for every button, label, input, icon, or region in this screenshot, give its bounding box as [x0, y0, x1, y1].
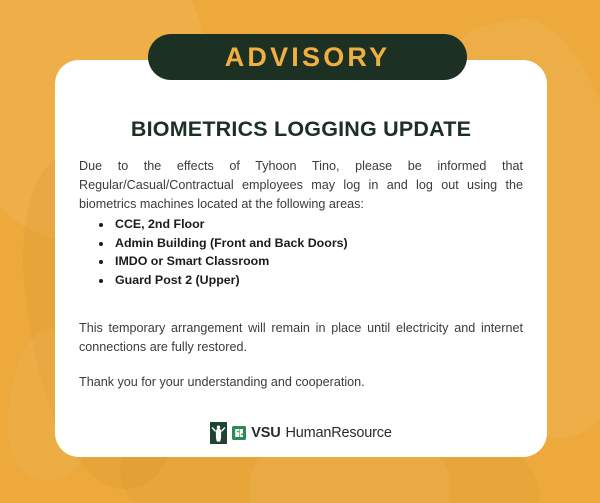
- temporary-arrangement-paragraph: This temporary arrangement will remain i…: [79, 319, 523, 357]
- footer-brand-humanresource: HumanResource: [286, 426, 392, 441]
- list-item: IMDO or Smart Classroom: [113, 252, 523, 271]
- page-title: BIOMETRICS LOGGING UPDATE: [55, 117, 547, 142]
- thanks-paragraph: Thank you for your understanding and coo…: [79, 373, 523, 392]
- advisory-card: BIOMETRICS LOGGING UPDATE Due to the eff…: [55, 60, 547, 457]
- list-item: Admin Building (Front and Back Doors): [113, 234, 523, 253]
- footer-brand-vsu: VSU: [251, 426, 280, 441]
- intro-paragraph: Due to the effects of Tyhoon Tino, pleas…: [79, 157, 523, 214]
- location-list: CCE, 2nd Floor Admin Building (Front and…: [95, 215, 523, 289]
- advisory-poster: BIOMETRICS LOGGING UPDATE Due to the eff…: [0, 0, 600, 503]
- footer-logo-lockup: VSU HumanResource: [55, 422, 547, 444]
- list-item: CCE, 2nd Floor: [113, 215, 523, 234]
- vsu-mark-icon: [232, 426, 246, 440]
- advisory-banner: ADVISORY: [148, 34, 467, 80]
- list-item: Guard Post 2 (Upper): [113, 271, 523, 290]
- advisory-banner-label: ADVISORY: [225, 44, 391, 71]
- vsu-statue-icon: [210, 422, 227, 444]
